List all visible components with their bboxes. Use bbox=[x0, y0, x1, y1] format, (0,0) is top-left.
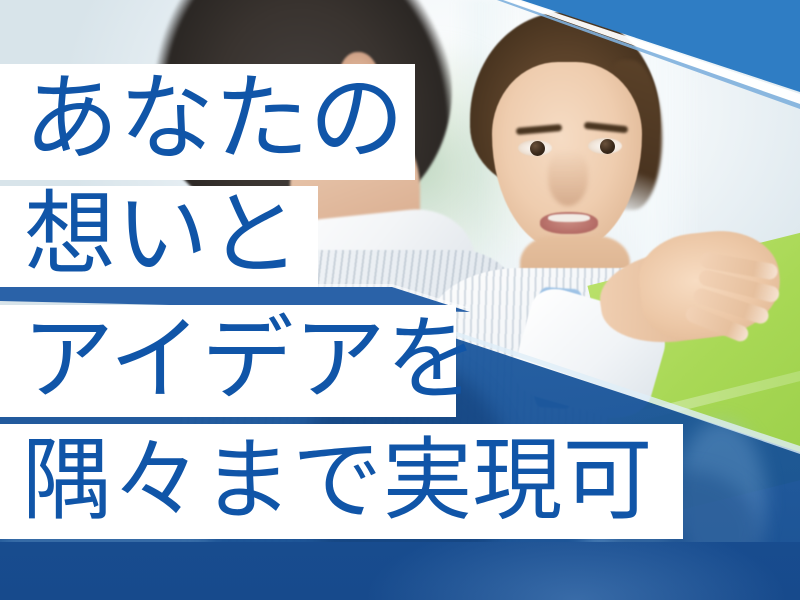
headline-box-4: 隅々まで実現可 bbox=[0, 424, 683, 539]
man-right-pupil-right bbox=[600, 139, 615, 154]
headline-line-4: 隅々まで実現可 bbox=[0, 436, 653, 526]
headline-line-1: あなたの bbox=[0, 72, 404, 167]
banner-root: あなたの 想いと アイデアを 隅々まで実現可 bbox=[0, 0, 800, 600]
headline-line-2: 想いと bbox=[0, 189, 300, 281]
man-right-teeth bbox=[548, 214, 590, 222]
headline-box-2: 想いと bbox=[0, 186, 318, 288]
headline-box-1: あなたの bbox=[0, 64, 415, 180]
man-right-pupil-left bbox=[530, 141, 545, 156]
headline-box-3: アイデアを bbox=[0, 305, 456, 417]
headline-line-3: アイデアを bbox=[0, 314, 478, 406]
man-right-nose bbox=[548, 150, 588, 206]
